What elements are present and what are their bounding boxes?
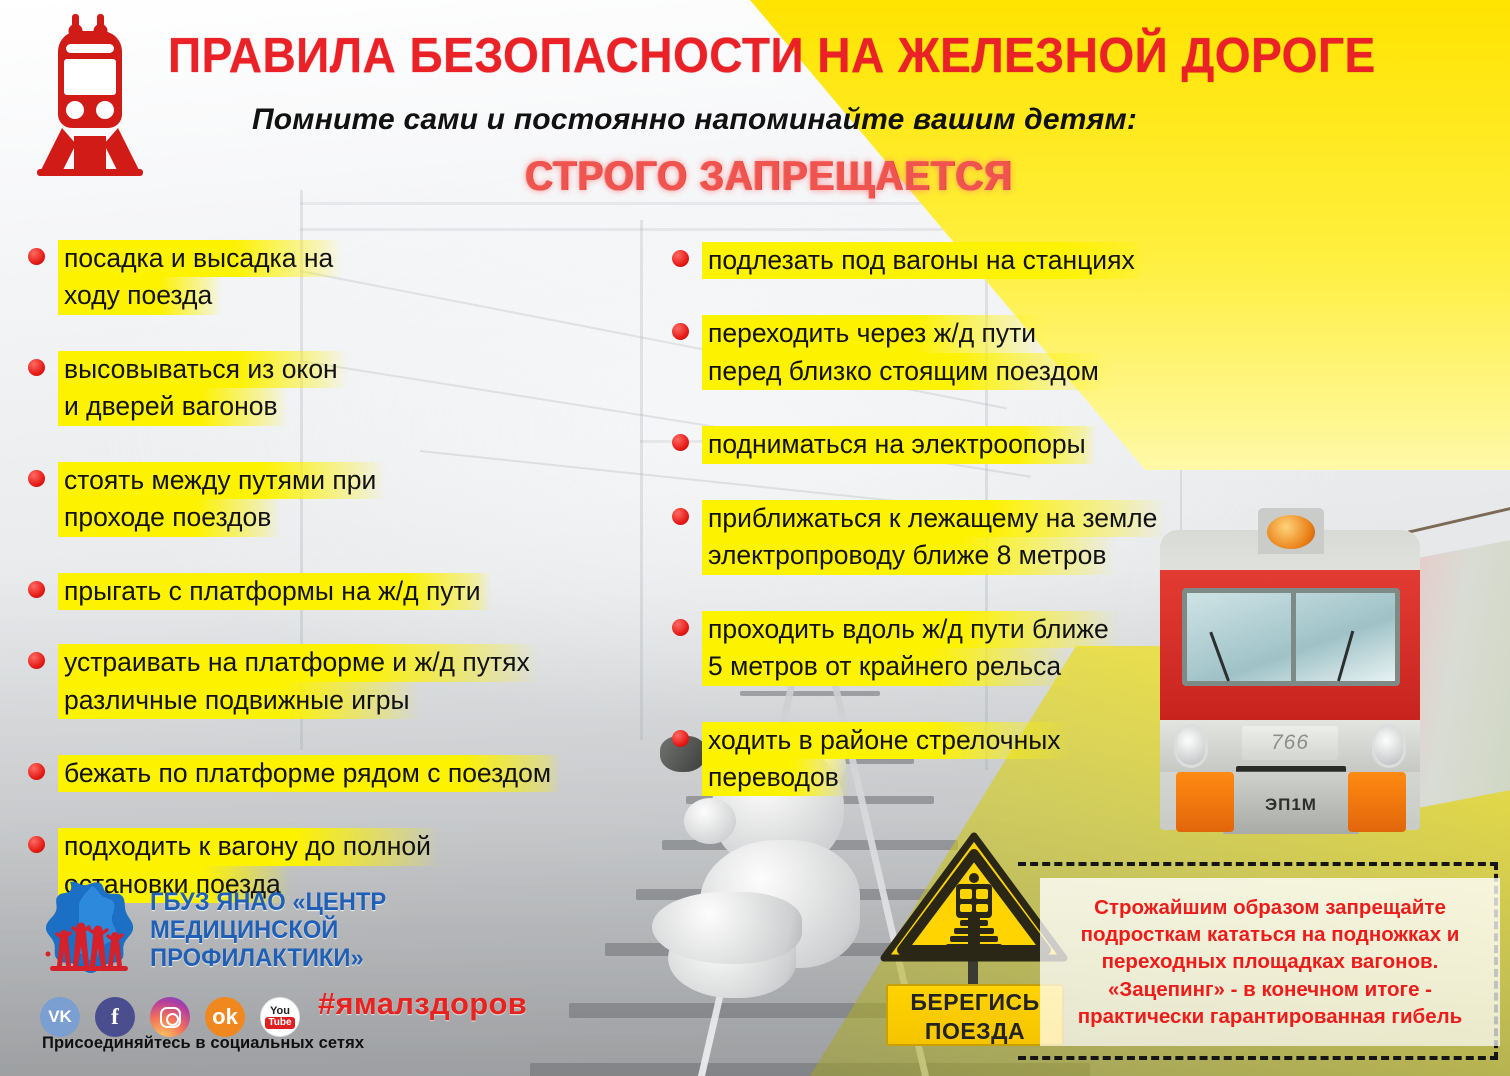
rule-text-line: устраивать на платформе и ж/д путях [58, 644, 540, 681]
rule-text-line: перед близко стоящим поездом [702, 353, 1109, 390]
odnoklassniki-icon[interactable]: ok [205, 997, 245, 1037]
rule-item: приближаться к лежащему на землеэлектроп… [672, 498, 1282, 579]
rule-text-line: 5 метров от крайнего рельса [702, 648, 1071, 685]
page-subtitle: Помните сами и постоянно напоминайте ваш… [252, 103, 1137, 137]
rule-item: подлезать под вагоны на станциях [672, 240, 1282, 283]
brand-name-line1: ГБУЗ ЯНАО «ЦЕНТР МЕДИЦИНСКОЙ [150, 888, 549, 944]
warning-text-line: переходных площадках вагонов. [1078, 948, 1463, 975]
facebook-icon[interactable]: f [95, 997, 135, 1037]
rule-text: ходить в районе стрелочныхпереводов [702, 720, 1071, 801]
rule-text-line: проходить вдоль ж/д пути ближе [702, 611, 1119, 648]
bullet-dot-icon [28, 836, 45, 853]
locomotive-carbody [1408, 537, 1510, 810]
rule-text-line: переходить через ж/д пути [702, 315, 1046, 352]
catenary-gantry-icon [300, 228, 1000, 231]
rule-item: переходить через ж/д путиперед близко ст… [672, 313, 1282, 394]
rule-text: посадка и высадка находу поезда [58, 238, 343, 319]
warning-text-line: Строжайшим образом запрещайте [1078, 894, 1463, 921]
rule-text-line: подходить к вагону до полной [58, 828, 441, 865]
yamal-map-people-logo [40, 880, 138, 980]
warning-box: Строжайшим образом запрещайтеподросткам … [1040, 878, 1500, 1046]
rule-text-line: и дверей вагонов [58, 388, 288, 425]
bullet-dot-icon [28, 470, 45, 487]
rule-text-line: ходу поезда [58, 277, 222, 314]
brand-name: ГБУЗ ЯНАО «ЦЕНТР МЕДИЦИНСКОЙ ПРОФИЛАКТИК… [150, 888, 549, 972]
poster-root: 766 ЭП1М ПРАВИЛА [0, 0, 1510, 1076]
rule-text-line: различные подвижные игры [58, 682, 420, 719]
bullet-dot-icon [28, 652, 45, 669]
rule-text-line: посадка и высадка на [58, 240, 343, 277]
bullet-dot-icon [28, 248, 45, 265]
rule-text-line: прыгать с платформы на ж/д пути [58, 573, 491, 610]
rule-text: проходить вдоль ж/д пути ближе5 метров о… [702, 609, 1119, 690]
bullet-dot-icon [672, 434, 689, 451]
bullet-dot-icon [28, 581, 45, 598]
rules-column-left: посадка и высадка находу поездавысовыват… [28, 238, 643, 907]
headlight-right-icon [1372, 724, 1406, 768]
rule-text-line: стоять между путями при [58, 462, 386, 499]
rule-item: ходить в районе стрелочныхпереводов [672, 720, 1282, 801]
rule-text-line: ходить в районе стрелочных [702, 722, 1071, 759]
rule-item: стоять между путями припроходе поездов [28, 460, 643, 541]
bullet-dot-icon [672, 730, 689, 747]
rule-item: подниматься на электроопоры [672, 424, 1282, 467]
rule-text: подниматься на электроопоры [702, 424, 1096, 467]
bullet-dot-icon [28, 359, 45, 376]
train-front-icon [36, 12, 154, 178]
rule-text-line: проходе поездов [58, 499, 281, 536]
rule-text-line: высовываться из окон [58, 351, 348, 388]
bear-arm [652, 892, 802, 964]
warning-text: Строжайшим образом запрещайтеподросткам … [1072, 894, 1469, 1030]
instagram-icon[interactable] [150, 997, 190, 1037]
bear-snout [684, 798, 736, 844]
rule-text: прыгать с платформы на ж/д пути [58, 571, 491, 614]
rule-text: подлезать под вагоны на станциях [702, 240, 1145, 283]
join-social-text: Присоединяйтесь в социальных сетях [42, 1034, 364, 1053]
forbidden-heading: СТРОГО ЗАПРЕЩАЕТСЯ [525, 152, 1013, 200]
rule-text-line: электропроводу ближе 8 метров [702, 537, 1116, 574]
catenary-gantry-icon [300, 202, 1000, 205]
rule-item: посадка и высадка находу поезда [28, 238, 643, 319]
rule-item: устраивать на платформе и ж/д путяхразли… [28, 642, 643, 723]
page-title: ПРАВИЛА БЕЗОПАСНОСТИ НА ЖЕЛЕЗНОЙ ДОРОГЕ [168, 28, 1418, 84]
rule-text: приближаться к лежащему на землеэлектроп… [702, 498, 1167, 579]
bullet-dot-icon [28, 763, 45, 780]
vk-icon[interactable]: VK [40, 997, 80, 1037]
bullet-dot-icon [672, 250, 689, 267]
buffer-right-icon [1348, 772, 1406, 832]
rule-item: бежать по платформе рядом с поездом [28, 753, 643, 796]
bullet-dot-icon [672, 323, 689, 340]
rule-text-line: переводов [702, 759, 849, 796]
rule-text: бежать по платформе рядом с поездом [58, 753, 561, 796]
rule-text-line: приближаться к лежащему на земле [702, 500, 1167, 537]
warning-text-line: подросткам кататься на подножках и [1078, 921, 1463, 948]
rule-item: проходить вдоль ж/д пути ближе5 метров о… [672, 609, 1282, 690]
hashtag: #ямалздоров [318, 986, 527, 1022]
brand-name-line2: ПРОФИЛАКТИКИ» [150, 944, 549, 972]
youtube-icon[interactable]: You Tube [260, 997, 300, 1037]
bullet-dot-icon [672, 508, 689, 525]
rule-text: стоять между путями припроходе поездов [58, 460, 386, 541]
rule-item: прыгать с платформы на ж/д пути [28, 571, 643, 614]
bullet-dot-icon [672, 619, 689, 636]
warning-text-line: практически гарантированная гибель [1078, 1003, 1463, 1030]
rule-text-line: бежать по платформе рядом с поездом [58, 755, 561, 792]
rule-text: устраивать на платформе и ж/д путяхразли… [58, 642, 540, 723]
rule-text: высовываться из окони дверей вагонов [58, 349, 348, 430]
rule-item: высовываться из окони дверей вагонов [28, 349, 643, 430]
rule-text-line: подниматься на электроопоры [702, 426, 1096, 463]
rule-text: переходить через ж/д путиперед близко ст… [702, 313, 1109, 394]
rules-column-right: подлезать под вагоны на станцияхпереходи… [672, 240, 1282, 800]
rule-text-line: подлезать под вагоны на станциях [702, 242, 1145, 279]
warning-text-line: «Зацепинг» - в конечном итоге - [1078, 976, 1463, 1003]
